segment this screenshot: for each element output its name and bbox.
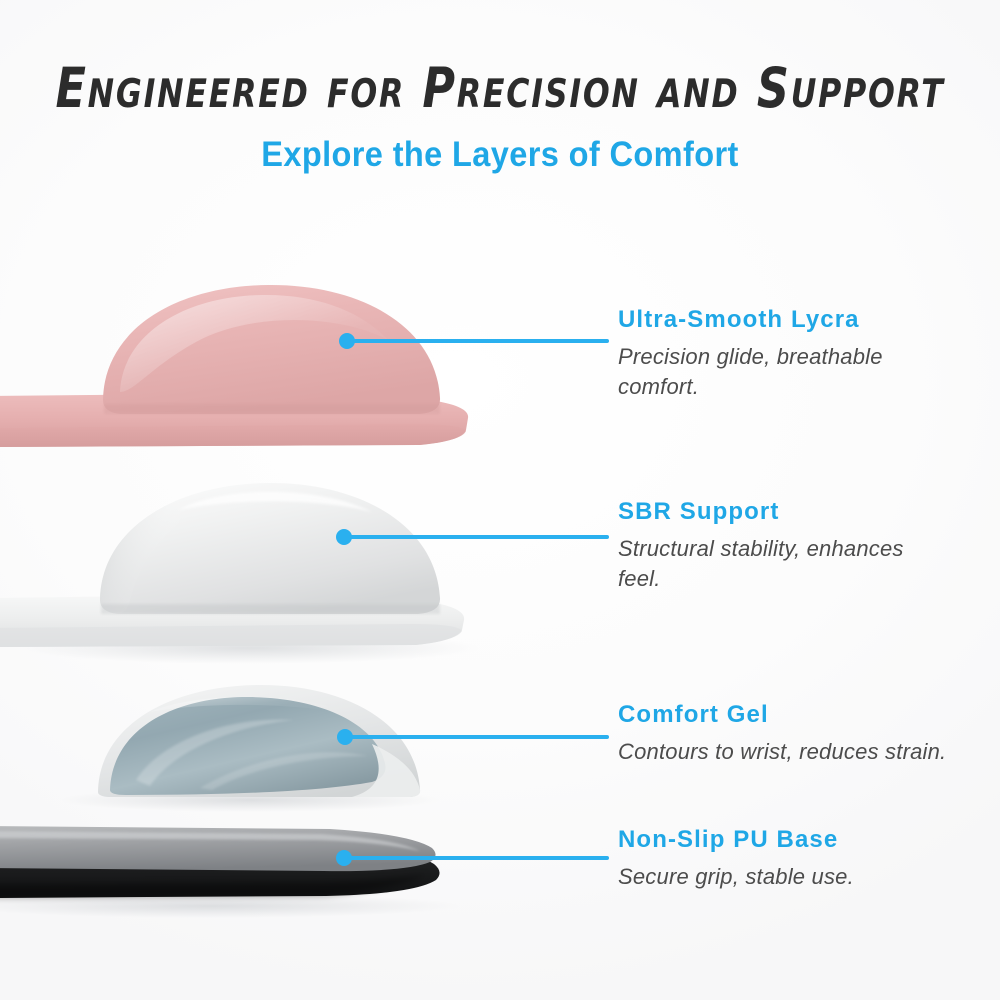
callout-desc-pu-base: Secure grip, stable use. (618, 862, 854, 892)
callout-desc-lycra: Precision glide, breathable comfort. (618, 342, 948, 402)
callout-gel: Comfort Gel Contours to wrist, reduces s… (618, 700, 946, 767)
callout-desc-gel: Contours to wrist, reduces strain. (618, 737, 946, 767)
callout-title-gel: Comfort Gel (618, 700, 946, 730)
callout-pu-base: Non-Slip PU Base Secure grip, stable use… (618, 825, 854, 892)
callout-sbr: SBR Support Structural stability, enhanc… (618, 497, 948, 594)
callout-title-lycra: Ultra-Smooth Lycra (618, 305, 948, 335)
infographic-page: Engineered for Precision and Support Exp… (0, 0, 1000, 1000)
callout-lycra: Ultra-Smooth Lycra Precision glide, brea… (618, 305, 948, 402)
layer-gel (60, 685, 440, 812)
layer-sbr (0, 483, 480, 664)
callout-desc-sbr: Structural stability, enhances feel. (618, 534, 948, 594)
callout-title-sbr: SBR Support (618, 497, 948, 527)
layer-pu-base (0, 826, 460, 918)
callout-title-pu-base: Non-Slip PU Base (618, 825, 854, 855)
layer-lycra (0, 285, 468, 447)
